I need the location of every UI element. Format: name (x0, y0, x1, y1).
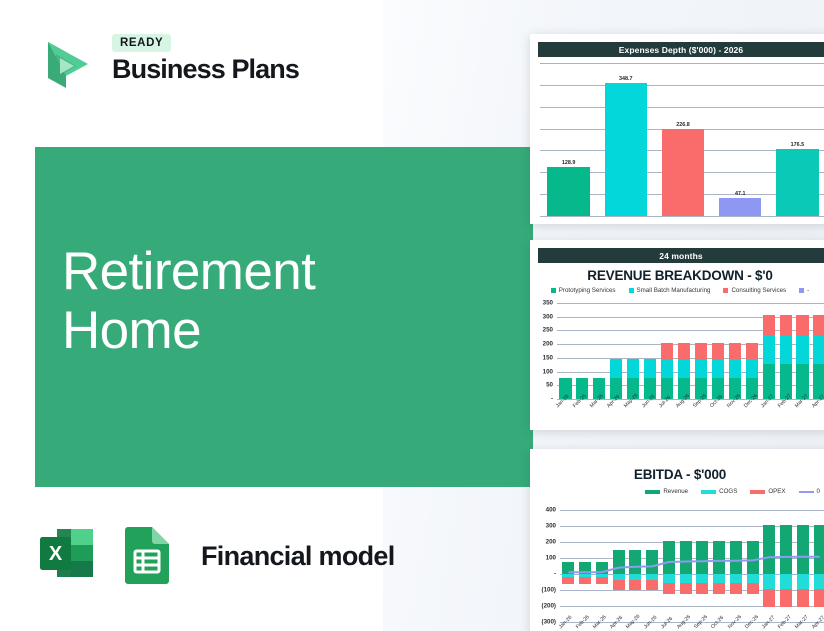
bar-value-label: 47.1 (735, 191, 746, 197)
plot-area-expenses: 128.9348.7226.847.1176.5 (540, 63, 824, 216)
y-axis-tick: 200 (536, 341, 553, 348)
bar-column (794, 303, 811, 399)
bar-segment (780, 335, 792, 364)
bar-column (811, 303, 824, 399)
bar-segment (763, 335, 775, 364)
bar-segment (661, 343, 673, 359)
hero-panel: Retirement Home (35, 147, 533, 487)
legend-item: - (799, 287, 809, 294)
chart-heading-ebitda: EBITDA - $'000 (530, 467, 824, 482)
y-axis-tick: 300 (536, 313, 553, 320)
bar-column (625, 303, 642, 399)
legend-label: OPEX (768, 488, 785, 495)
legend-label: - (807, 287, 809, 294)
bar-segment (678, 343, 690, 359)
google-sheets-icon (117, 521, 177, 592)
svg-text:X: X (49, 543, 63, 565)
chart-legend-revenue: Prototyping ServicesSmall Batch Manufact… (530, 287, 824, 294)
bar-column: 348.7 (597, 63, 654, 216)
bar (776, 149, 818, 217)
y-axis-tick: 100 (536, 555, 556, 562)
bar-column (608, 303, 625, 399)
legend-item: Prototyping Services (551, 287, 616, 294)
legend-color-swatch (551, 288, 556, 293)
chart-card-expenses[interactable]: Expenses Depth ($'000) - 2026 128.9348.7… (530, 34, 824, 224)
chart-legend-ebitda: RevenueCOGSOPEX0 (530, 488, 824, 495)
bar (605, 83, 647, 216)
x-axis-labels-ebitda: Jan-26Feb-26Mar-26Apr-26May-26Jun-26Jul-… (560, 625, 824, 631)
bar-value-label: 348.7 (619, 76, 633, 82)
legend-label: Prototyping Services (559, 287, 616, 294)
bar-column (777, 303, 794, 399)
y-axis-tick: (200) (536, 603, 556, 610)
legend-color-swatch (723, 288, 728, 293)
brand-text: READY Business Plans (112, 34, 299, 83)
microsoft-excel-icon: X (35, 521, 101, 592)
plot-area-ebitda: 400300200100-(100)(200)(300) (536, 510, 824, 622)
bar-segment (712, 343, 724, 359)
bar-value-label: 226.8 (676, 122, 690, 128)
y-axis-tick: 50 (536, 382, 553, 389)
page-title: Retirement Home (62, 242, 315, 361)
legend-label: Revenue (663, 488, 688, 495)
bar-segment (796, 315, 808, 335)
bar-segment (813, 315, 824, 335)
slide-canvas: READY Business Plans Retirement Home X (0, 0, 824, 631)
legend-label: Small Batch Manufacturing (637, 287, 711, 294)
legend-item: 0 (799, 488, 820, 495)
bar-segment (627, 359, 639, 378)
y-axis-tick: 150 (536, 354, 553, 361)
bar-value-label: 128.9 (562, 160, 576, 166)
bar-segment (729, 343, 741, 359)
legend-item: Small Batch Manufacturing (629, 287, 711, 294)
chart-heading-revenue: REVENUE BREAKDOWN - $'0 (530, 268, 824, 283)
bar-segment (729, 359, 741, 378)
bar-column (743, 303, 760, 399)
legend-label: COGS (719, 488, 737, 495)
legend-item: OPEX (750, 488, 785, 495)
trend-line (560, 510, 824, 622)
bar-segment (763, 315, 775, 335)
brand-name: Business Plans (112, 55, 299, 83)
bar-segment (780, 315, 792, 335)
bar-column (557, 303, 574, 399)
bar-column: 176.5 (769, 63, 824, 216)
bar-segment (661, 359, 673, 378)
x-axis-labels-revenue: Jan-26Feb-26Mar-26Apr-26May-26Jun-26Jul-… (557, 404, 824, 410)
bar-column (659, 303, 676, 399)
bar-segment (678, 359, 690, 378)
y-axis-tick: 100 (536, 368, 553, 375)
bar-segment (644, 359, 656, 378)
bar-group: 128.9348.7226.847.1176.5 (540, 63, 824, 216)
legend-color-swatch (701, 490, 716, 494)
bar-segment (712, 359, 724, 378)
bar-segment (695, 343, 707, 359)
bar-column: 47.1 (712, 63, 769, 216)
bar (662, 129, 704, 216)
bar-column (642, 303, 659, 399)
chart-subtitle-band-revenue: 24 months (538, 248, 824, 263)
bar (719, 198, 761, 216)
brand-lockup: READY Business Plans (36, 28, 299, 90)
bar-segment (695, 359, 707, 378)
chart-title-band-expenses: Expenses Depth ($'000) - 2026 (538, 42, 824, 57)
bar (547, 167, 589, 216)
bar-segment (796, 335, 808, 364)
grid-line (540, 216, 824, 217)
legend-label: 0 (817, 488, 820, 495)
bar-column (709, 303, 726, 399)
bar-column (574, 303, 591, 399)
y-axis-tick: 300 (536, 523, 556, 530)
legend-color-swatch (629, 288, 634, 293)
y-axis-tick: 350 (536, 300, 553, 307)
bar-segment (746, 359, 758, 378)
y-axis-tick: (300) (536, 619, 556, 626)
y-axis-tick: 400 (536, 507, 556, 514)
footer-row: X Financial model (35, 521, 395, 592)
legend-item: Revenue (645, 488, 688, 495)
legend-item: COGS (701, 488, 737, 495)
chart-card-revenue[interactable]: 24 months REVENUE BREAKDOWN - $'0 Protot… (530, 240, 824, 430)
bar-column (760, 303, 777, 399)
y-axis-tick: - (536, 396, 553, 403)
ready-badge: READY (112, 34, 171, 52)
y-axis-tick: (100) (536, 587, 556, 594)
y-axis-tick: 200 (536, 539, 556, 546)
bar-segment (813, 335, 824, 364)
bar-column: 128.9 (540, 63, 597, 216)
legend-color-swatch (645, 490, 660, 494)
legend-label: Consulting Services (731, 287, 786, 294)
bar-column (726, 303, 743, 399)
bar-column: 226.8 (654, 63, 711, 216)
bar-column (591, 303, 608, 399)
legend-color-swatch (750, 490, 765, 494)
bar-value-label: 176.5 (791, 142, 805, 148)
footer-label: Financial model (201, 541, 395, 572)
bar-column (676, 303, 693, 399)
play-triangle-logo-icon (36, 28, 98, 90)
bar-column (693, 303, 710, 399)
legend-line-swatch (799, 491, 814, 493)
bar-segment (610, 359, 622, 378)
bar-group (557, 303, 824, 399)
bar-segment (746, 343, 758, 359)
legend-color-swatch (799, 288, 804, 293)
y-axis-tick: 250 (536, 327, 553, 334)
legend-item: Consulting Services (723, 287, 786, 294)
y-axis-tick: - (536, 571, 556, 578)
plot-area-revenue: 35030025020015010050- (536, 303, 824, 399)
chart-card-ebitda[interactable]: EBITDA - $'000 RevenueCOGSOPEX0 40030020… (530, 449, 824, 631)
